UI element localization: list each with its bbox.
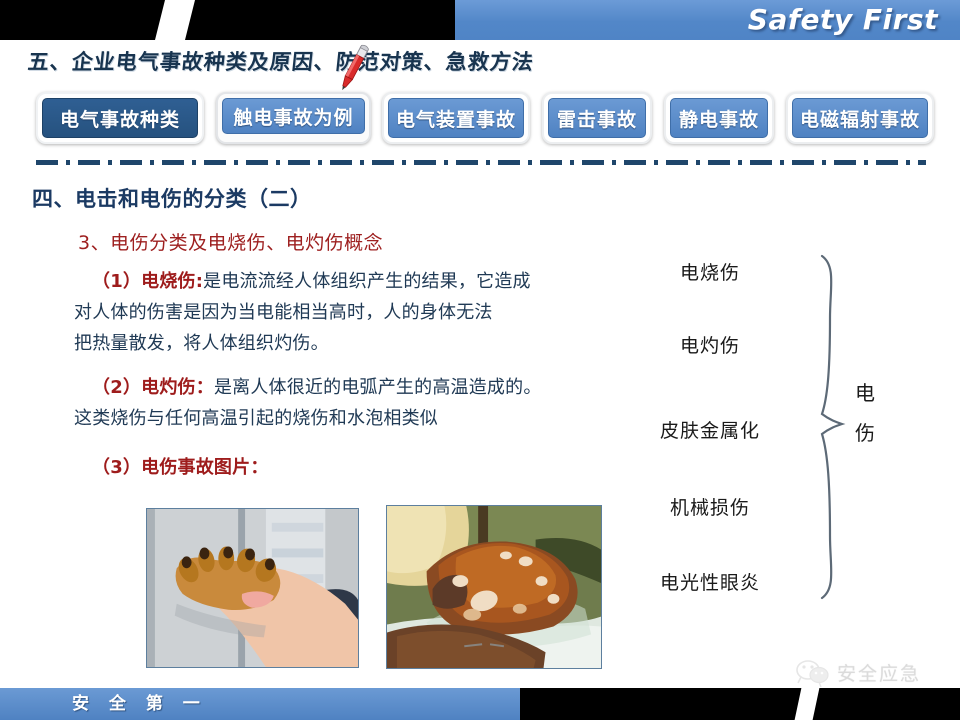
nav-button-leiji-shigu[interactable]: 雷击事故 [542,92,652,144]
burned-body-photo [386,505,602,669]
brace-item-3: 机械损伤 [670,493,750,520]
page-title: 四、电击和电伤的分类（二） [32,183,312,213]
paragraph-photos-label: （3）电伤事故图片： [92,452,492,483]
paragraph-line: 这类烧伤与任何高温引起的烧伤和水泡相类似 [74,403,652,434]
nav-button-dianqi-zhuangzhi-shigu[interactable]: 电气装置事故 [382,92,530,144]
burned-hand-photo [146,508,359,668]
sub-heading: 3、电伤分类及电烧伤、电灼伤概念 [78,228,383,255]
dashed-divider [36,160,926,165]
nav-button-label: 电气事故种类 [60,105,180,132]
paragraph-line: 是电流流经人体组织产生的结果，它造成 [203,271,531,292]
wechat-face-logo [795,657,831,687]
brace-result: 电伤 [848,373,882,453]
footer-bar: 安 全 第 一 [0,688,960,720]
brace-item-0: 电烧伤 [680,258,740,285]
slide-root: Safety First 五、企业电气事故种类及原因、防范对策、急救方法 电气事… [0,0,960,720]
nav-button-label: 雷击事故 [557,105,637,132]
nav-button-label: 电气装置事故 [396,105,516,132]
paragraph-dianzhuoshang: （2）电灼伤：是离人体很近的电弧产生的高温造成的。 这类烧伤与任何高温引起的烧伤… [92,372,652,434]
paragraph-line: 是离人体很近的电弧产生的高温造成的。 [214,377,542,398]
paragraph-label: （1）电烧伤: [92,271,203,292]
watermark-text: 安全应急 [837,659,921,686]
footer-slogan: 安 全 第 一 [72,691,207,717]
pen-icon [336,42,372,94]
nav-button-jingdian-shigu[interactable]: 静电事故 [664,92,774,144]
watermark: 安全应急 [795,652,955,692]
section-title: 五、企业电气事故种类及原因、防范对策、急救方法 [26,46,535,76]
paragraph-line: 对人体的伤害是因为当电能相当高时，人的身体无法 [74,297,632,328]
nav-button-label: 静电事故 [679,105,759,132]
brace-diagram: 电烧伤 电灼伤 皮肤金属化 机械损伤 电光性眼炎 电伤 [640,248,950,608]
footer-black-panel [520,688,960,720]
nav-button-chudian-shigu-weili[interactable]: 触电事故为例 [216,92,371,144]
paragraph-dianshaoshang: （1）电烧伤:是电流流经人体组织产生的结果，它造成 对人体的伤害是因为当电能相当… [92,266,632,359]
nav-button-dianqi-shigu-zhonglei[interactable]: 电气事故种类 [36,92,204,144]
paragraph-label: （3）电伤事故图片： [92,457,269,478]
nav-button-label: 触电事故为例 [233,103,353,130]
top-bar: Safety First [0,0,960,40]
nav-button-label: 电磁辐射事故 [800,105,920,132]
brace-item-1: 电灼伤 [680,331,740,358]
top-bar-black-left [0,0,170,40]
brace-item-2: 皮肤金属化 [660,416,760,443]
brace-item-4: 电光性眼炎 [660,568,760,595]
paragraph-label: （2）电灼伤： [92,377,214,398]
paragraph-line: 把热量散发，将人体组织灼伤。 [74,328,632,359]
nav-button-diancifushe-shigu[interactable]: 电磁辐射事故 [786,92,934,144]
top-bar-black-right [182,0,455,40]
brand-title: Safety First [748,2,938,38]
